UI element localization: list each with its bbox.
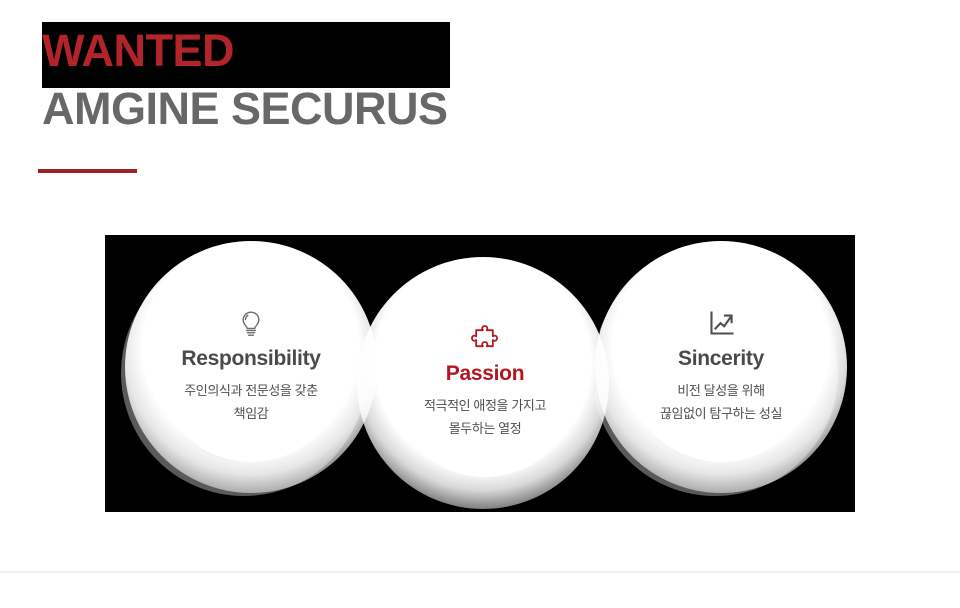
page-heading: WANTED AMGINE SECURUS — [0, 0, 960, 200]
growth-chart-icon — [706, 309, 736, 339]
value-description-passion: 적극적인 애정을 가지고 몰두하는 열정 — [424, 395, 546, 441]
value-card-passion[interactable]: Passion 적극적인 애정을 가지고 몰두하는 열정 — [390, 287, 580, 477]
value-description-responsibility: 주인의식과 전문성을 갖춘 책임감 — [184, 380, 318, 426]
heading-line-wanted: WANTED — [42, 28, 234, 73]
heading-line-company: AMGINE SECURUS — [42, 86, 448, 131]
value-title-responsibility: Responsibility — [181, 347, 320, 371]
heading-underline-rule — [38, 169, 137, 173]
diagram-stage: Responsibility 주인의식과 전문성을 갖춘 책임감 Passion… — [105, 235, 855, 512]
value-description-sincerity: 비전 달성을 위해 끊임없이 탐구하는 성실 — [660, 380, 782, 426]
value-card-sincerity[interactable]: Sincerity 비전 달성을 위해 끊임없이 탐구하는 성실 — [626, 272, 816, 462]
puzzle-piece-icon — [470, 324, 500, 354]
page-root: WANTED AMGINE SECURUS — [0, 0, 960, 608]
core-values-diagram-panel: Responsibility 주인의식과 전문성을 갖춘 책임감 Passion… — [105, 235, 855, 512]
footer-divider — [0, 571, 960, 573]
lightbulb-icon — [236, 309, 266, 339]
value-title-sincerity: Sincerity — [678, 347, 764, 371]
value-title-passion: Passion — [446, 362, 524, 386]
value-card-responsibility[interactable]: Responsibility 주인의식과 전문성을 갖춘 책임감 — [156, 272, 346, 462]
